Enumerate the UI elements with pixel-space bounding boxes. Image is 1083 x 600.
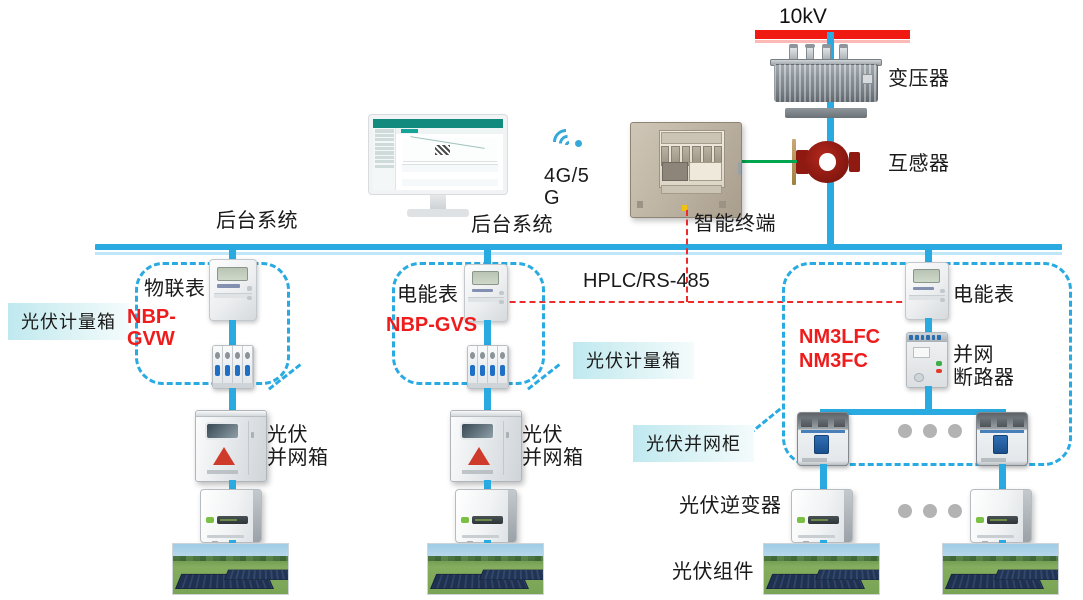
inverter-side-panel bbox=[1023, 490, 1031, 542]
monitor-image bbox=[368, 114, 508, 220]
terminal-foot-right bbox=[719, 201, 726, 208]
inverter-side-panel bbox=[253, 490, 261, 542]
left-column-riser-mid bbox=[229, 320, 236, 348]
pv-array-right-b bbox=[942, 543, 1059, 595]
pvbox-door-seam bbox=[503, 421, 504, 476]
mccb-label-plate bbox=[802, 458, 827, 462]
ellipsis-breakers bbox=[898, 424, 962, 438]
terminal-info-plate bbox=[689, 162, 722, 181]
monitor-screen bbox=[373, 119, 503, 190]
inverter-right-a bbox=[791, 489, 853, 543]
main-lv-bus bbox=[95, 244, 1062, 250]
gtb-window bbox=[913, 347, 931, 358]
iot-meter-label-left: 物联表 bbox=[144, 277, 206, 301]
pv-background-trees bbox=[428, 556, 543, 561]
mcb-left bbox=[212, 345, 254, 389]
mccb-lugs bbox=[798, 413, 848, 427]
ct-aperture bbox=[819, 153, 836, 170]
pv-array-mid bbox=[427, 543, 544, 595]
meter-button bbox=[499, 291, 504, 295]
diagram-canvas: 10kV 变压器 互感器 智能终 bbox=[0, 0, 1083, 600]
terminal-foot-left bbox=[637, 201, 644, 208]
callout-pv-metering-box-mid: 光伏计量箱 bbox=[573, 342, 694, 379]
model-code-right: NM3LFC NM3FC bbox=[799, 325, 880, 374]
inverter-right-b bbox=[970, 489, 1032, 543]
pvbox-warning-icon bbox=[468, 447, 490, 465]
meter-brand bbox=[913, 287, 934, 291]
energy-meter-right bbox=[905, 262, 949, 320]
meter-button bbox=[940, 289, 945, 293]
wireless-label: 4G/5 G bbox=[544, 166, 589, 209]
inverter-logo bbox=[797, 517, 805, 523]
comms-protocol-label: HPLC/RS-485 bbox=[583, 269, 710, 293]
smart-terminal-image bbox=[630, 122, 742, 218]
meter-button bbox=[247, 296, 252, 300]
grid-tie-breaker-label: 并网 断路器 bbox=[953, 344, 1015, 390]
backend-label-left: 后台系统 bbox=[216, 209, 298, 233]
pv-grid-box-mid bbox=[450, 410, 522, 482]
inverter-logo bbox=[976, 517, 984, 523]
mccb-b bbox=[976, 412, 1028, 466]
ellipsis-inverters bbox=[898, 504, 962, 518]
pvbox-warning-icon bbox=[213, 447, 235, 465]
transformer-nameplate bbox=[862, 74, 874, 84]
app-sidebar bbox=[373, 128, 396, 189]
terminal-header-row bbox=[661, 132, 723, 143]
transformer-base bbox=[785, 108, 867, 119]
mccb-a bbox=[797, 412, 849, 466]
pv-panel-row bbox=[994, 570, 1059, 580]
mccb-lugs bbox=[977, 413, 1027, 427]
pv-panel-row bbox=[479, 570, 544, 580]
gtb-terminal-block bbox=[907, 333, 947, 342]
callout-pv-metering-box-left: 光伏计量箱 bbox=[8, 303, 129, 340]
terminal-display bbox=[662, 162, 688, 181]
ct-label: 互感器 bbox=[888, 152, 950, 176]
iot-meter-left bbox=[209, 259, 257, 321]
pv-module-label: 光伏组件 bbox=[672, 560, 754, 584]
grid-tie-breaker bbox=[906, 332, 948, 388]
meter-lcd bbox=[217, 267, 247, 281]
pv-grid-box-left bbox=[195, 410, 267, 482]
inverter-vent bbox=[977, 535, 1014, 538]
mccb-stripe bbox=[801, 430, 845, 433]
ct-terminal-right bbox=[849, 152, 860, 171]
pvbox-roof bbox=[451, 411, 521, 417]
pvbox-window bbox=[205, 422, 240, 440]
energy-meter-label-right: 电能表 bbox=[953, 283, 1015, 307]
energy-meter-label-mid: 电能表 bbox=[397, 283, 459, 307]
gtb-status-led-green bbox=[936, 361, 942, 366]
pvbox-nameplate bbox=[207, 470, 238, 474]
pv-panel-row bbox=[224, 570, 289, 580]
app-topbar bbox=[373, 119, 503, 128]
inverter-vent bbox=[207, 535, 244, 538]
terminal-latch bbox=[738, 162, 742, 174]
inverter-display bbox=[217, 516, 248, 524]
app-chart bbox=[403, 138, 497, 161]
pv-background-trees bbox=[764, 556, 879, 561]
app-qr-thumb bbox=[435, 145, 450, 155]
right-inverter-riser-a bbox=[820, 464, 827, 492]
pv-background-trees bbox=[173, 556, 288, 561]
mccb-label-plate bbox=[981, 458, 1006, 462]
inverter-side-panel bbox=[508, 490, 516, 542]
monitor-foot bbox=[407, 209, 469, 216]
meter-button bbox=[247, 286, 252, 290]
right-inverter-riser-b bbox=[999, 464, 1006, 492]
meter-lcd bbox=[472, 271, 500, 284]
meter-button bbox=[940, 298, 945, 302]
pv-array-right-a bbox=[763, 543, 880, 595]
inverter-mid bbox=[455, 489, 517, 543]
app-table bbox=[402, 164, 498, 187]
monitor-bezel bbox=[368, 114, 508, 195]
inverter-logo bbox=[461, 517, 469, 523]
transformer-label: 变压器 bbox=[888, 67, 950, 91]
inverter-logo bbox=[206, 517, 214, 523]
mccb-handle bbox=[814, 435, 829, 454]
current-transformer-image bbox=[793, 138, 861, 186]
gtb-status-led-red bbox=[936, 369, 942, 374]
pvbox-door-seam bbox=[248, 421, 249, 476]
inverter-display bbox=[808, 516, 839, 524]
mccb-handle bbox=[993, 435, 1008, 454]
smart-terminal-label: 智能终端 bbox=[694, 212, 776, 236]
inverter-side-panel bbox=[844, 490, 852, 542]
pv-panel-row bbox=[815, 570, 880, 580]
monitor-neck bbox=[430, 195, 447, 211]
ct-signal-cable bbox=[735, 160, 797, 163]
terminal-lower-row bbox=[661, 185, 723, 194]
pvbox-nameplate bbox=[462, 470, 493, 474]
meter-button bbox=[499, 300, 504, 304]
pvbox-hinge bbox=[251, 432, 254, 438]
inverter-display bbox=[987, 516, 1018, 524]
inverter-left bbox=[200, 489, 262, 543]
app-body bbox=[396, 134, 503, 190]
pvbox-window bbox=[460, 422, 495, 440]
hv-voltage-label: 10kV bbox=[779, 4, 827, 30]
callout-pv-grid-cabinet: 光伏并网柜 bbox=[633, 425, 754, 462]
meter-brand bbox=[472, 289, 493, 293]
meter-brand bbox=[217, 284, 240, 288]
pv-array-left bbox=[172, 543, 289, 595]
model-code-mid: NBP-GVS bbox=[386, 313, 477, 337]
backend-label-right: 后台系统 bbox=[471, 213, 553, 237]
pv-grid-box-label-mid: 光伏 并网箱 bbox=[522, 424, 584, 470]
meter-lcd bbox=[913, 269, 941, 282]
wifi-center-dot bbox=[575, 140, 582, 147]
gtb-dial bbox=[914, 373, 924, 382]
wifi-icon bbox=[551, 129, 591, 161]
mccb-stripe bbox=[980, 430, 1024, 433]
pvbox-hinge bbox=[506, 432, 509, 438]
inverter-display bbox=[472, 516, 503, 524]
pv-grid-box-label-left: 光伏 并网箱 bbox=[267, 424, 329, 470]
inverter-vent bbox=[798, 535, 835, 538]
main-lv-bus-shadow bbox=[95, 252, 1062, 255]
model-code-left: NBP- GVW bbox=[127, 306, 176, 350]
mid-column-riser-mid bbox=[484, 320, 491, 348]
pv-background-trees bbox=[943, 556, 1058, 561]
inverter-label-right: 光伏逆变器 bbox=[679, 494, 782, 518]
inverter-vent bbox=[462, 535, 499, 538]
transformer-image bbox=[762, 44, 890, 120]
pvbox-roof bbox=[196, 411, 266, 417]
mcb-mid bbox=[467, 345, 509, 389]
